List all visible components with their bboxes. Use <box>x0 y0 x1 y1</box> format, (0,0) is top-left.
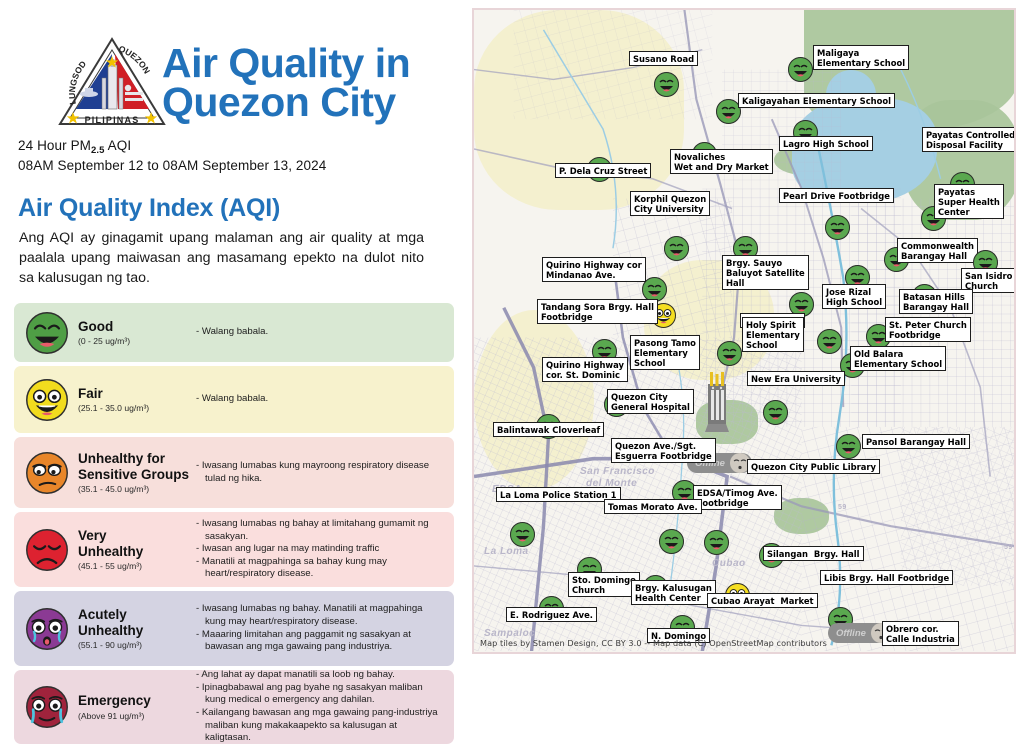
map-route-shield: 59 <box>838 504 847 511</box>
station-label[interactable]: EDSA/Timog Ave. Footbridge <box>693 485 782 510</box>
advice-item: Iwasang lumabas ng bahay at limitahang g… <box>196 518 442 543</box>
advice-item: Iwasan ang lugar na may matinding traffi… <box>196 543 442 556</box>
station-label[interactable]: Payatas Super Health Center <box>934 184 1004 219</box>
legend-name-line2: Sensitive Groups <box>78 467 196 482</box>
legend-names: Unhealthy for Sensitive Groups (35.1 - 4… <box>78 451 196 493</box>
map-place-label: La Loma <box>484 546 529 557</box>
station-marker-good[interactable] <box>763 400 788 425</box>
station-marker-good[interactable] <box>654 72 679 97</box>
station-label[interactable]: Kaligayahan Elementary School <box>738 93 895 108</box>
station-label[interactable]: Holy Spirit Elementary School <box>742 317 804 352</box>
legend-range: (0 - 25 ug/m³) <box>78 336 196 346</box>
station-label[interactable]: Libis Brgy. Hall Footbridge <box>820 570 953 585</box>
legend-name-line1: Unhealthy for <box>78 451 196 466</box>
station-label[interactable]: Sto. Domingo Church <box>568 572 640 597</box>
station-label[interactable]: Quezon City General Hospital <box>607 389 694 414</box>
unhealthy-sensitive-face-icon <box>24 450 70 496</box>
station-label[interactable]: P. Dela Cruz Street <box>555 163 651 178</box>
advice-item: Walang babala. <box>196 326 442 339</box>
legend-advice: Ang lahat ay dapat manatili sa loob ng b… <box>196 669 454 745</box>
station-label[interactable]: La Loma Police Station 1 <box>496 487 621 502</box>
map-place-label: San Francisco <box>580 466 655 477</box>
map-place-label: Cubao <box>712 558 746 569</box>
legend-advice: Iwasang lumabas kung mayroong respirator… <box>196 460 454 485</box>
very-unhealthy-face-icon <box>24 527 70 573</box>
good-face-icon <box>24 310 70 356</box>
legend-names: Good (0 - 25 ug/m³) <box>78 319 196 346</box>
acutely-unhealthy-face-icon <box>24 606 70 652</box>
map-route-shield: 59 <box>1004 544 1013 551</box>
poster-header: LUNGSOD QUEZON PILIPINAS Air Quality in … <box>14 18 464 143</box>
quezon-memorial-monument-icon <box>705 372 729 432</box>
legend-advice: Iwasang lumabas ng bahay. Manatili at ma… <box>196 603 454 654</box>
station-label[interactable]: Quezon Ave./Sgt. Esguerra Footbridge <box>611 438 716 463</box>
advice-item: Kailangang bawasan ang mga gawaing pang-… <box>196 707 442 745</box>
quezon-city-seal-icon: LUNGSOD QUEZON PILIPINAS <box>56 32 168 132</box>
legend-row-acutely-unhealthy: Acutely Unhealthy (55.1 - 90 ug/m³) Iwas… <box>14 591 454 666</box>
metric-suffix: AQI <box>105 138 132 153</box>
station-marker-good[interactable] <box>788 57 813 82</box>
station-marker-good[interactable] <box>817 329 842 354</box>
poster-root: LUNGSOD QUEZON PILIPINAS Air Quality in … <box>0 0 1024 675</box>
map-attribution: Map tiles by Stamen Design, CC BY 3.0 --… <box>480 638 827 648</box>
legend-range: (55.1 - 90 ug/m³) <box>78 640 196 650</box>
legend-name: Emergency <box>78 693 196 708</box>
legend-name-line1: Acutely <box>78 607 196 622</box>
station-marker-good[interactable] <box>510 522 535 547</box>
station-label[interactable]: New Era University <box>747 371 845 386</box>
station-marker-good[interactable] <box>664 236 689 261</box>
station-label[interactable]: Susano Road <box>629 51 698 66</box>
station-label[interactable]: Brgy. Sauyo Baluyot Satellite Hall <box>722 255 809 290</box>
legend-name-line1: Very <box>78 528 196 543</box>
station-label[interactable]: Old Balara Elementary School <box>850 346 946 371</box>
station-label[interactable]: Payatas Controlled Disposal Facility <box>922 127 1016 152</box>
advice-item: Manatili at magpahinga sa bahay kung may… <box>196 556 442 581</box>
legend-names: Acutely Unhealthy (55.1 - 90 ug/m³) <box>78 607 196 649</box>
station-marker-good[interactable] <box>717 341 742 366</box>
station-label[interactable]: Quirino Highway cor Mindanao Ave. <box>542 257 646 282</box>
station-label[interactable]: Pasong Tamo Elementary School <box>630 335 700 370</box>
legend-row-emergency: Emergency (Above 91 ug/m³) Ang lahat ay … <box>14 670 454 744</box>
station-label[interactable]: Quirino Highway cor. St. Dominic <box>542 357 628 382</box>
offline-label: Offline <box>828 628 871 639</box>
page-title: Air Quality in Quezon City <box>162 44 482 123</box>
station-label[interactable]: Batasan Hills Barangay Hall <box>899 289 973 314</box>
station-marker-good[interactable] <box>825 215 850 240</box>
station-label[interactable]: Brgy. Kalusugan Health Center <box>631 580 716 605</box>
station-marker-good[interactable] <box>704 530 729 555</box>
station-label[interactable]: Balintawak Cloverleaf <box>493 422 604 437</box>
legend-range: (45.1 - 55 ug/m³) <box>78 561 196 571</box>
info-panel: LUNGSOD QUEZON PILIPINAS Air Quality in … <box>0 0 470 675</box>
station-label[interactable]: Pansol Barangay Hall <box>862 434 970 449</box>
legend-advice: Walang babala. <box>196 393 454 406</box>
legend-name-line2: Unhealthy <box>78 623 196 638</box>
aqi-description: Ang AQI ay ginagamit upang malaman ang a… <box>19 228 424 288</box>
title-line-2: Quezon City <box>162 83 482 122</box>
date-range: 08AM September 12 to 08AM September 13, … <box>18 158 326 173</box>
station-label[interactable]: Novaliches Wet and Dry Market <box>670 149 773 174</box>
advice-item: Iwasang lumabas ng bahay. Manatili at ma… <box>196 603 442 628</box>
station-label[interactable]: Tomas Morato Ave. <box>604 499 702 514</box>
station-label[interactable]: Lagro High School <box>779 136 873 151</box>
metric-subscript: 2.5 <box>91 145 105 156</box>
legend-advice: Walang babala. <box>196 326 454 339</box>
map-tiles: EDSA San Francisco del Monte La Loma Sam… <box>474 10 1014 652</box>
station-label[interactable]: Jose Rizal High School <box>822 284 886 309</box>
legend-range: (Above 91 ug/m³) <box>78 711 196 721</box>
station-label[interactable]: Pearl Drive Footbridge <box>779 188 894 203</box>
advice-item: Ipinagbabawal ang pag byahe ng sasakyan … <box>196 682 442 707</box>
station-label[interactable]: Quezon City Public Library <box>747 459 880 474</box>
station-label[interactable]: Obrero cor. Calle Industria <box>882 621 959 646</box>
metric-prefix: 24 Hour PM <box>18 138 91 153</box>
metric-label: 24 Hour PM2.5 AQI <box>18 138 131 153</box>
station-label[interactable]: St. Peter Church Footbridge <box>885 317 971 342</box>
legend-row-good: Good (0 - 25 ug/m³) Walang babala. <box>14 303 454 362</box>
station-label[interactable]: Tandang Sora Brgy. Hall Footbridge <box>537 299 658 324</box>
svg-text:PILIPINAS: PILIPINAS <box>85 115 140 125</box>
fair-face-icon <box>24 377 70 423</box>
advice-item: Iwasang lumabas kung mayroong respirator… <box>196 460 442 485</box>
station-label[interactable]: Maligaya Elementary School <box>813 45 909 70</box>
advice-item: Walang babala. <box>196 393 442 406</box>
legend-range: (35.1 - 45.0 ug/m³) <box>78 484 196 494</box>
station-label[interactable]: Cubao Arayat Market <box>707 593 818 608</box>
legend-name-line2: Unhealthy <box>78 544 196 559</box>
station-label[interactable]: Silangan Brgy. Hall <box>763 546 864 561</box>
advice-item: Maaaring limitahan ang paggamit ng sasak… <box>196 629 442 654</box>
aqi-section-title: Air Quality Index (AQI) <box>18 194 280 223</box>
advice-item: Ang lahat ay dapat manatili sa loob ng b… <box>196 669 442 682</box>
legend-names: Emergency (Above 91 ug/m³) <box>78 693 196 720</box>
legend-row-fair: Fair (25.1 - 35.0 ug/m³) Walang babala. <box>14 366 454 433</box>
station-label[interactable]: E. Rodriguez Ave. <box>506 607 597 622</box>
station-marker-good[interactable] <box>836 434 861 459</box>
aqi-legend: Good (0 - 25 ug/m³) Walang babala. <box>14 303 454 748</box>
station-marker-good[interactable] <box>659 529 684 554</box>
emergency-face-icon <box>24 684 70 730</box>
legend-names: Very Unhealthy (45.1 - 55 ug/m³) <box>78 528 196 570</box>
legend-row-unhealthy-sensitive: Unhealthy for Sensitive Groups (35.1 - 4… <box>14 437 454 508</box>
legend-names: Fair (25.1 - 35.0 ug/m³) <box>78 386 196 413</box>
legend-name: Good <box>78 319 196 334</box>
aqi-map[interactable]: EDSA San Francisco del Monte La Loma Sam… <box>472 8 1016 654</box>
legend-advice: Iwasang lumabas ng bahay at limitahang g… <box>196 518 454 581</box>
legend-row-very-unhealthy: Very Unhealthy (45.1 - 55 ug/m³) Iwasang… <box>14 512 454 587</box>
station-label[interactable]: Korphil Quezon City University <box>630 191 710 216</box>
legend-name: Fair <box>78 386 196 401</box>
legend-range: (25.1 - 35.0 ug/m³) <box>78 403 196 413</box>
station-label[interactable]: Commonwealth Barangay Hall <box>897 238 978 263</box>
